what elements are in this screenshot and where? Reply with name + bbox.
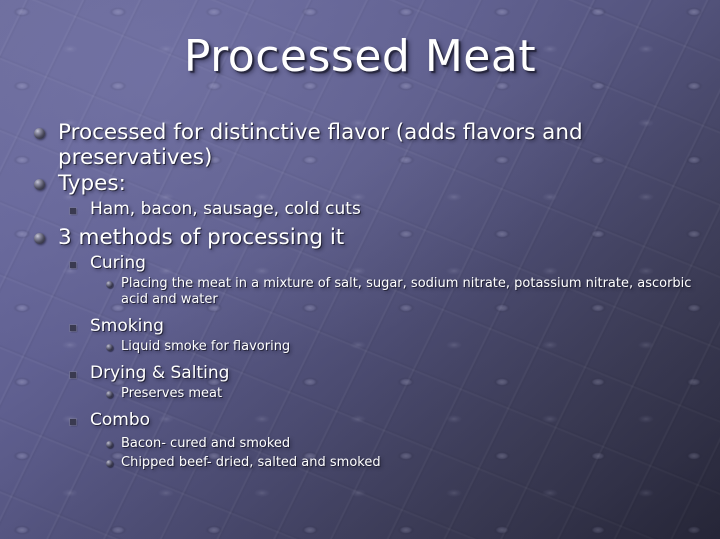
dot-bullet-icon	[106, 441, 113, 448]
bullet-text: Drying & Salting	[90, 363, 229, 383]
presentation-slide: Processed Meat Processed for distinctive…	[0, 0, 720, 539]
bullet-text: Placing the meat in a mixture of salt, s…	[121, 276, 691, 307]
bullet-item-level2: Ham, bacon, sausage, cold cuts	[26, 197, 702, 222]
bullet-item-level3: Chipped beef- dried, salted and smoked	[26, 455, 702, 471]
bullet-text: 3 methods of processing it	[58, 225, 344, 250]
bullet-text: Smoking	[90, 316, 164, 336]
dot-bullet-icon	[106, 460, 113, 467]
square-bullet-icon	[70, 419, 76, 425]
bullet-item-level2: Combo	[26, 408, 702, 433]
sphere-bullet-icon	[34, 233, 45, 244]
bullet-text: Preserves meat	[121, 386, 222, 401]
bullet-item-level1: Types:	[26, 171, 702, 196]
slide-body: Processed for distinctive flavor (adds f…	[26, 120, 702, 471]
square-bullet-icon	[70, 372, 76, 378]
bullet-item-level3: Placing the meat in a mixture of salt, s…	[26, 276, 702, 308]
bullet-item-level1: 3 methods of processing it	[26, 225, 702, 250]
slide-title: Processed Meat	[0, 34, 720, 80]
square-bullet-icon	[70, 325, 76, 331]
bullet-text: Ham, bacon, sausage, cold cuts	[90, 199, 361, 219]
sphere-bullet-icon	[34, 128, 45, 139]
bullet-text: Processed for distinctive flavor (adds f…	[58, 120, 583, 170]
dot-bullet-icon	[106, 281, 113, 288]
bullet-text: Curing	[90, 253, 146, 273]
bullet-text: Combo	[90, 410, 150, 430]
dot-bullet-icon	[106, 344, 113, 351]
dot-bullet-icon	[106, 391, 113, 398]
square-bullet-icon	[70, 262, 76, 268]
bullet-item-level1: Processed for distinctive flavor (adds f…	[26, 120, 702, 170]
bullet-item-level2: Smoking	[26, 314, 702, 339]
bullet-text: Liquid smoke for flavoring	[121, 339, 290, 354]
bullet-item-level3: Bacon- cured and smoked	[26, 436, 702, 452]
bullet-text: Types:	[58, 171, 126, 196]
bullet-text: Bacon- cured and smoked	[121, 436, 290, 451]
bullet-item-level3: Preserves meat	[26, 386, 702, 402]
sphere-bullet-icon	[34, 179, 45, 190]
bullet-item-level3: Liquid smoke for flavoring	[26, 339, 702, 355]
square-bullet-icon	[70, 208, 76, 214]
bullet-item-level2: Drying & Salting	[26, 361, 702, 386]
bullet-text: Chipped beef- dried, salted and smoked	[121, 455, 381, 470]
bullet-item-level2: Curing	[26, 251, 702, 276]
